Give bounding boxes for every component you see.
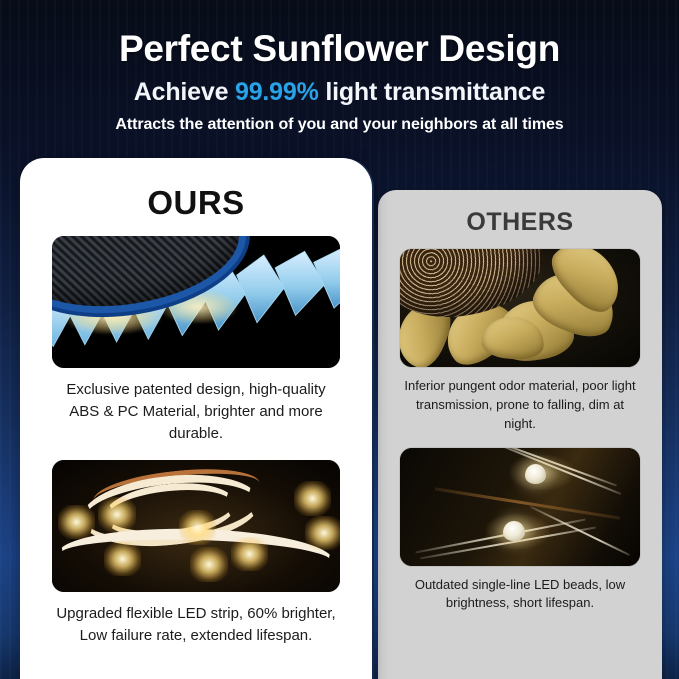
others-panel: OTHERS Inferior pungent odor material, p…	[378, 190, 662, 679]
others-card-2: Outdated single-line LED beads, low brig…	[378, 448, 662, 614]
yellow-sunflower-artwork	[400, 249, 640, 367]
blue-sunflower-solar-light-photo	[52, 236, 340, 368]
others-caption-1: Inferior pungent odor material, poor lig…	[400, 377, 640, 434]
warm-led-strip-photo	[52, 460, 340, 592]
blue-sunflower-artwork	[52, 236, 340, 368]
others-heading: OTHERS	[378, 208, 662, 237]
led-beads-artwork	[400, 448, 640, 566]
subtitle-text-after: light transmittance	[319, 78, 546, 106]
yellow-plastic-sunflower-photo	[400, 249, 640, 367]
led-bead-lower	[503, 521, 525, 541]
led-strip-artwork	[52, 460, 340, 592]
petal-glow-center	[161, 291, 236, 323]
header: Perfect Sunflower Design Achieve 99.99% …	[0, 0, 679, 134]
ours-caption-2: Upgraded flexible LED strip, 60% brighte…	[52, 603, 340, 647]
page-title: Perfect Sunflower Design	[0, 28, 679, 69]
subtitle: Achieve 99.99% light transmittance	[0, 78, 679, 107]
ours-caption-1: Exclusive patented design, high-quality …	[52, 379, 340, 444]
ours-heading: OURS	[20, 184, 372, 222]
single-line-led-beads-photo	[400, 448, 640, 566]
others-caption-2: Outdated single-line LED beads, low brig…	[400, 576, 640, 614]
transmittance-value: 99.99%	[235, 78, 319, 106]
ours-card-1: Exclusive patented design, high-quality …	[20, 236, 372, 444]
led-bead-upper	[525, 464, 547, 484]
tagline: Attracts the attention of you and your n…	[0, 116, 679, 134]
ours-card-2: Upgraded flexible LED strip, 60% brighte…	[20, 460, 372, 647]
others-card-1: Inferior pungent odor material, poor lig…	[378, 249, 662, 434]
product-comparison-infographic: Perfect Sunflower Design Achieve 99.99% …	[0, 0, 679, 679]
subtitle-text-before: Achieve	[134, 78, 235, 106]
ours-panel: OURS	[20, 158, 372, 679]
